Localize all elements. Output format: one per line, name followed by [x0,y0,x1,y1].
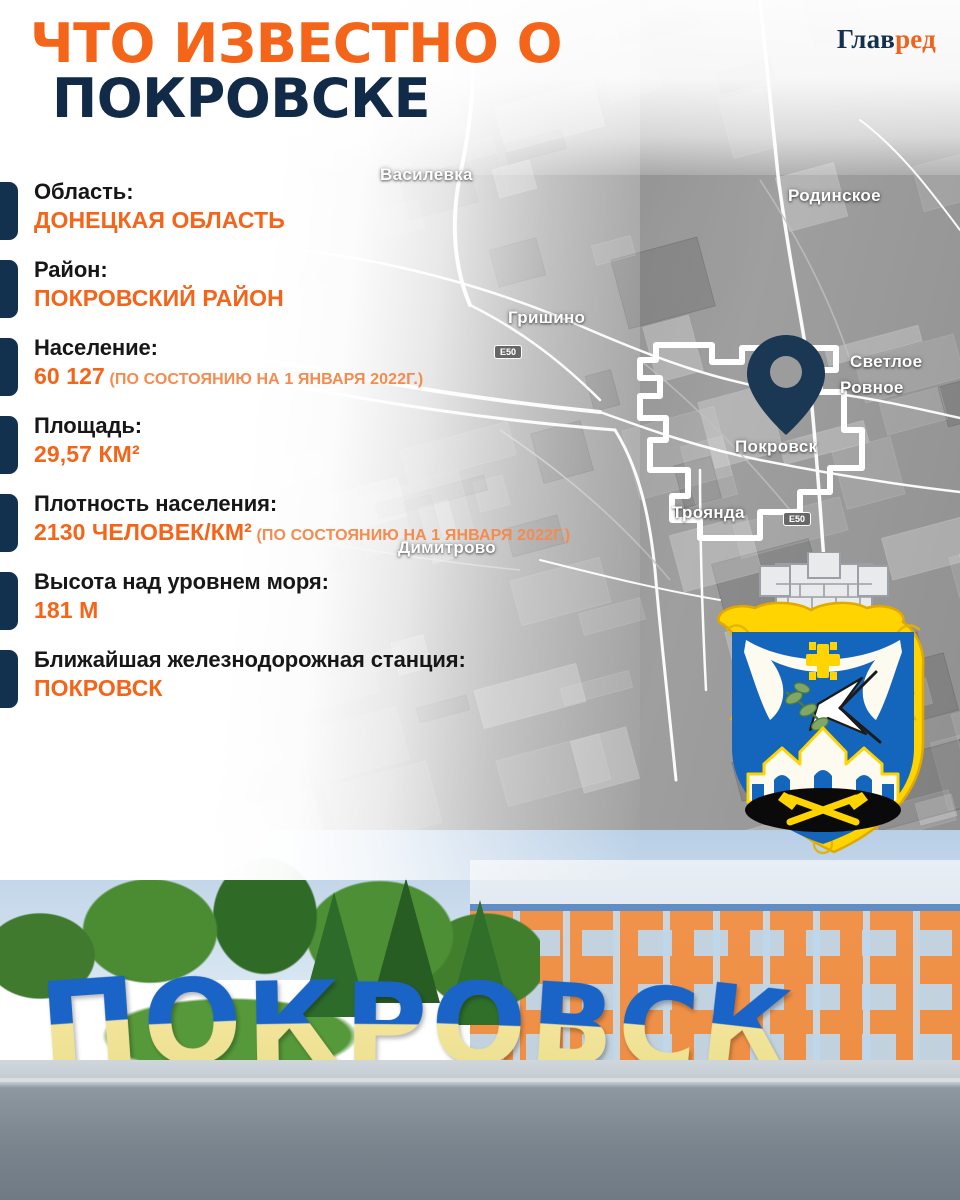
road-number-shield: E50 [783,512,811,526]
fact-value: 2130 ЧЕЛОВЕК/КМ² (ПО СОСТОЯНИЮ НА 1 ЯНВА… [34,518,730,548]
fact-value: 60 127 (ПО СОСТОЯНИЮ НА 1 ЯНВАРЯ 2022Г.) [34,362,730,392]
fact-list: Область:ДОНЕЦКАЯ ОБЛАСТЬРайон:ПОКРОВСКИЙ… [0,178,730,724]
city-photo-pokrovsk-sign: ПОКРОВСК [0,830,960,1200]
fact-value-note: (ПО СОСТОЯНИЮ НА 1 ЯНВАРЯ 2022Г.) [252,527,570,544]
city-sign-letter: Р [343,979,425,1073]
photo-concrete-plinth [0,1060,960,1200]
fact-label: Плотность населения: [34,490,730,518]
map-place-label: Ровное [840,378,904,398]
fact-row: Плотность населения:2130 ЧЕЛОВЕК/КМ² (ПО… [0,490,730,548]
fact-bullet-marker [0,260,18,318]
fact-label: Ближайшая железнодорожная станция: [34,646,730,674]
fact-bullet-marker [0,650,18,708]
city-sign-letter: К [245,977,339,1073]
map-place-label: Светлое [850,352,922,372]
fact-value-main: 181 М [34,597,98,623]
fact-label: Население: [34,334,730,362]
building-roofline [470,904,960,911]
city-sign-letters: ПОКРОВСК [40,975,788,1072]
fact-value-main: 2130 ЧЕЛОВЕК/КМ² [34,519,252,545]
fact-value: 29,57 КМ² [34,440,730,470]
fact-value: 181 М [34,596,730,626]
fact-row: Площадь:29,57 КМ² [0,412,730,470]
fact-bullet-marker [0,494,18,552]
fact-label: Площадь: [34,412,730,440]
mural-crown [760,552,888,610]
title-line-1: ЧТО ИЗВЕСТНО О [30,16,562,71]
fact-value-main: 29,57 КМ² [34,441,140,467]
fact-value-main: 60 127 [34,363,105,389]
fact-bullet-marker [0,338,18,396]
map-place-label: Покровск [735,437,817,457]
brand-part-1: Глав [837,24,895,54]
fact-value-main: ПОКРОВСКИЙ РАЙОН [34,285,284,311]
fact-row: Область:ДОНЕЦКАЯ ОБЛАСТЬ [0,178,730,236]
fact-label: Высота над уровнем моря: [34,568,730,596]
fact-value-main: ПОКРОВСК [34,675,163,701]
fact-row: Население:60 127 (ПО СОСТОЯНИЮ НА 1 ЯНВА… [0,334,730,392]
fact-value-main: ДОНЕЦКАЯ ОБЛАСТЬ [34,207,285,233]
map-place-label: Родинское [788,186,881,206]
fact-row: Высота над уровнем моря:181 М [0,568,730,626]
location-pin-icon [745,333,827,437]
fact-label: Район: [34,256,730,284]
title-line-2: ПОКРОВСКЕ [30,71,562,126]
fact-row: Район:ПОКРОВСКИЙ РАЙОН [0,256,730,314]
fact-value: ПОКРОВСКИЙ РАЙОН [34,284,730,314]
page-title: ЧТО ИЗВЕСТНО О ПОКРОВСКЕ [30,16,562,126]
black-mound-with-crossed-hammers [745,788,901,832]
infographic-root: ПОКРОВСК ВасилевкаРодинскоеГришиноСветло… [0,0,960,1200]
fact-value: ДОНЕЦКАЯ ОБЛАСТЬ [34,206,730,236]
brand-logo-glavred[interactable]: Главред [837,24,936,55]
fact-label: Область: [34,178,730,206]
fact-bullet-marker [0,182,18,240]
fact-value: ПОКРОВСК [34,674,730,704]
fact-bullet-marker [0,416,18,474]
brand-part-2: ред [895,24,936,54]
fact-bullet-marker [0,572,18,630]
building-window-row [470,930,960,956]
fact-value-note: (ПО СОСТОЯНИЮ НА 1 ЯНВАРЯ 2022Г.) [105,371,423,388]
fact-row: Ближайшая железнодорожная станция:ПОКРОВ… [0,646,730,704]
